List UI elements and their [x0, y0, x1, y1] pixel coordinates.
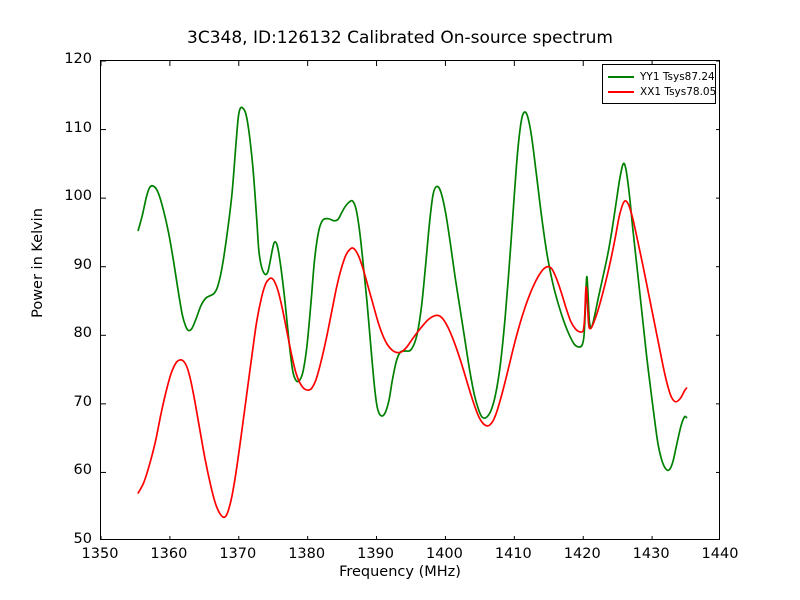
legend-swatch-xx1 — [608, 91, 634, 93]
y-tick-label: 120 — [38, 51, 92, 67]
y-tick-label: 100 — [38, 188, 92, 204]
y-tick-label: 110 — [38, 120, 92, 136]
legend-swatch-yy1 — [608, 76, 634, 78]
y-tick-label: 50 — [38, 531, 92, 547]
legend-label-xx1: XX1 Tsys78.05 — [640, 86, 716, 98]
plot-svg — [101, 61, 720, 540]
legend-label-yy1: YY1 Tsys87.24 — [640, 71, 715, 83]
series-line-xx1 — [138, 201, 686, 517]
y-tick-label: 80 — [38, 325, 92, 341]
y-tick-marks — [101, 61, 720, 540]
y-tick-label: 90 — [38, 257, 92, 273]
x-tick-label: 1440 — [680, 546, 760, 562]
legend-entry-xx1: XX1 Tsys78.05 — [608, 84, 710, 99]
plot-area — [100, 60, 720, 540]
legend-entry-yy1: YY1 Tsys87.24 — [608, 69, 710, 84]
x-tick-marks — [101, 61, 720, 540]
y-tick-label: 70 — [38, 394, 92, 410]
x-axis-label: Frequency (MHz) — [0, 564, 800, 580]
y-axis-label: Power in Kelvin — [30, 133, 46, 393]
chart-figure: 3C348, ID:126132 Calibrated On-source sp… — [0, 0, 800, 600]
y-tick-label: 60 — [38, 462, 92, 478]
legend-box: YY1 Tsys87.24 XX1 Tsys78.05 — [602, 64, 716, 104]
data-series-group — [138, 107, 686, 517]
chart-title: 3C348, ID:126132 Calibrated On-source sp… — [0, 28, 800, 48]
